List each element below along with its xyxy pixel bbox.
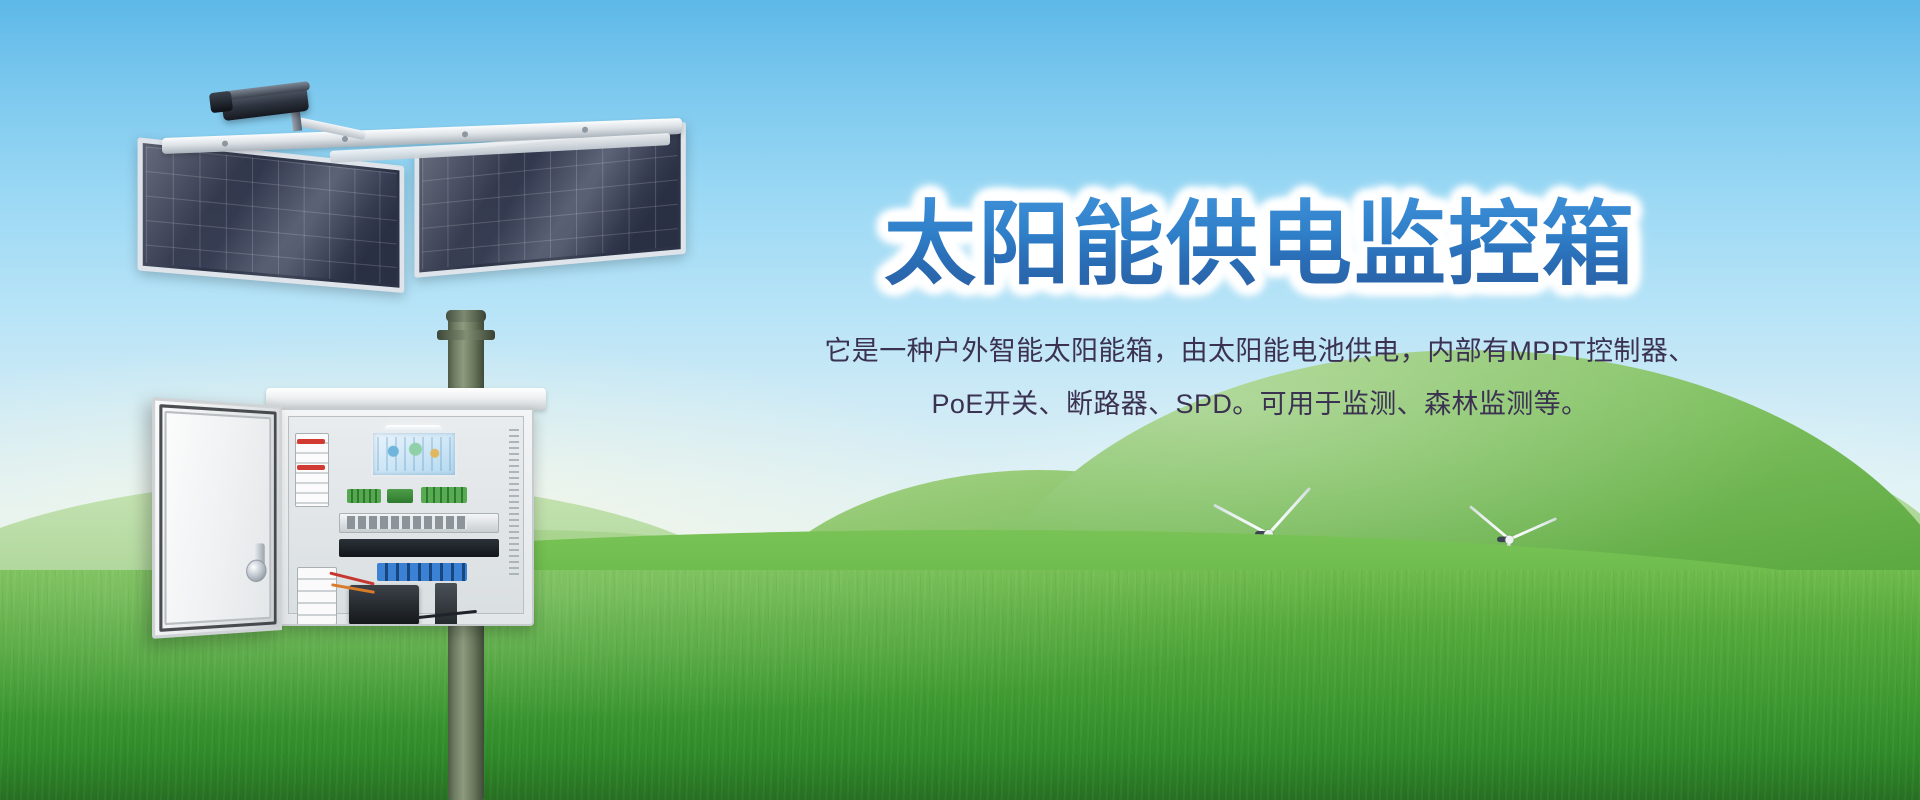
terminal-block [347,489,381,503]
camera-mount [291,111,302,132]
rail-screw [222,140,228,146]
mppt-controller-screen [371,431,457,477]
rail-screw [582,127,588,133]
banner-text-block: 太阳能供电监控箱 它是一种户外智能太阳能箱，由太阳能电池供电，内部有MPPT控制… [780,196,1740,431]
terminal-block [421,487,467,503]
panel-glare [143,143,400,288]
power-module [435,583,457,626]
screen-graphics [377,437,451,471]
circuit-breaker-module [295,433,329,507]
security-camera [208,78,338,138]
cabinet-interior [288,416,524,614]
breaker-switch-red [297,465,325,470]
camera-arm [296,117,366,140]
spd-module [377,563,467,581]
pole-bracket [437,330,495,340]
breaker-switch-red [297,439,325,444]
banner-subtitle: 它是一种户外智能太阳能箱，由太阳能电池供电，内部有MPPT控制器、 PoE开关、… [780,325,1740,430]
door-panel [164,411,271,625]
ethernet-ports [347,516,467,529]
cabinet-vent [509,429,519,579]
subtitle-line-1: 它是一种户外智能太阳能箱，由太阳能电池供电，内部有MPPT控制器、 [780,325,1740,378]
rail-screw [342,136,348,142]
dc-distribution-box [297,567,337,625]
rail-screw [462,131,468,137]
page-title: 太阳能供电监控箱 [780,196,1740,295]
cabinet-body [278,408,534,626]
turbine-hub [1505,536,1513,544]
open-cabinet-door[interactable] [152,397,282,639]
terminal-block [387,489,413,503]
camera-lens [209,91,233,114]
subtitle-line-2: PoE开关、断路器、SPD。可用于监测、森林监测等。 [780,378,1740,431]
solar-power-monitoring-cabinet [148,388,548,638]
solar-panel-array [140,128,700,328]
rack-unit [339,539,499,557]
solar-monitoring-banner: 太阳能供电监控箱 它是一种户外智能太阳能箱，由太阳能电池供电，内部有MPPT控制… [0,0,1920,800]
cabinet-roof [266,388,546,410]
